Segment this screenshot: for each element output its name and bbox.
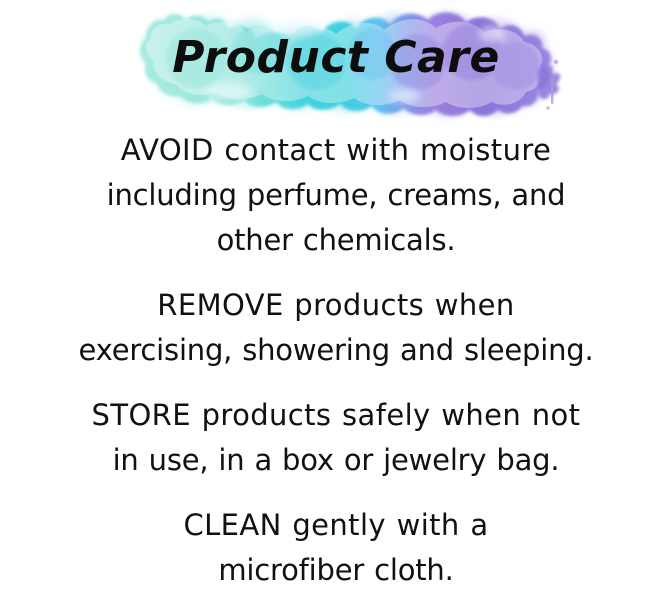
care-instruction-store: STORE products safely when not in use, i… — [36, 393, 636, 483]
product-care-card: Product Care AVOID contact with moisture… — [0, 0, 672, 582]
care-instruction-avoid: AVOID contact with moisture including pe… — [36, 128, 636, 263]
care-instruction-avoid-line-2: including perfume, creams, and — [107, 178, 566, 212]
care-instruction-store-line-1: STORE products safely when not — [92, 398, 581, 432]
care-instruction-clean: CLEAN gently with a microfiber cloth. — [36, 503, 636, 593]
care-instruction-remove-line-2: exercising, showering and sleeping. — [79, 333, 594, 367]
care-instruction-remove-line-1: REMOVE products when — [157, 288, 514, 322]
care-instruction-clean-line-1: CLEAN gently with a — [183, 508, 488, 542]
care-instructions-list: AVOID contact with moisture including pe… — [36, 128, 636, 593]
care-instruction-store-line-2: in use, in a box or jewelry bag. — [113, 443, 560, 477]
care-instruction-avoid-line-3: other chemicals. — [217, 223, 456, 257]
page-title: Product Care — [0, 30, 672, 86]
care-instruction-avoid-line-1: AVOID contact with moisture — [121, 133, 552, 167]
care-instruction-remove: REMOVE products when exercising, showeri… — [36, 283, 636, 373]
